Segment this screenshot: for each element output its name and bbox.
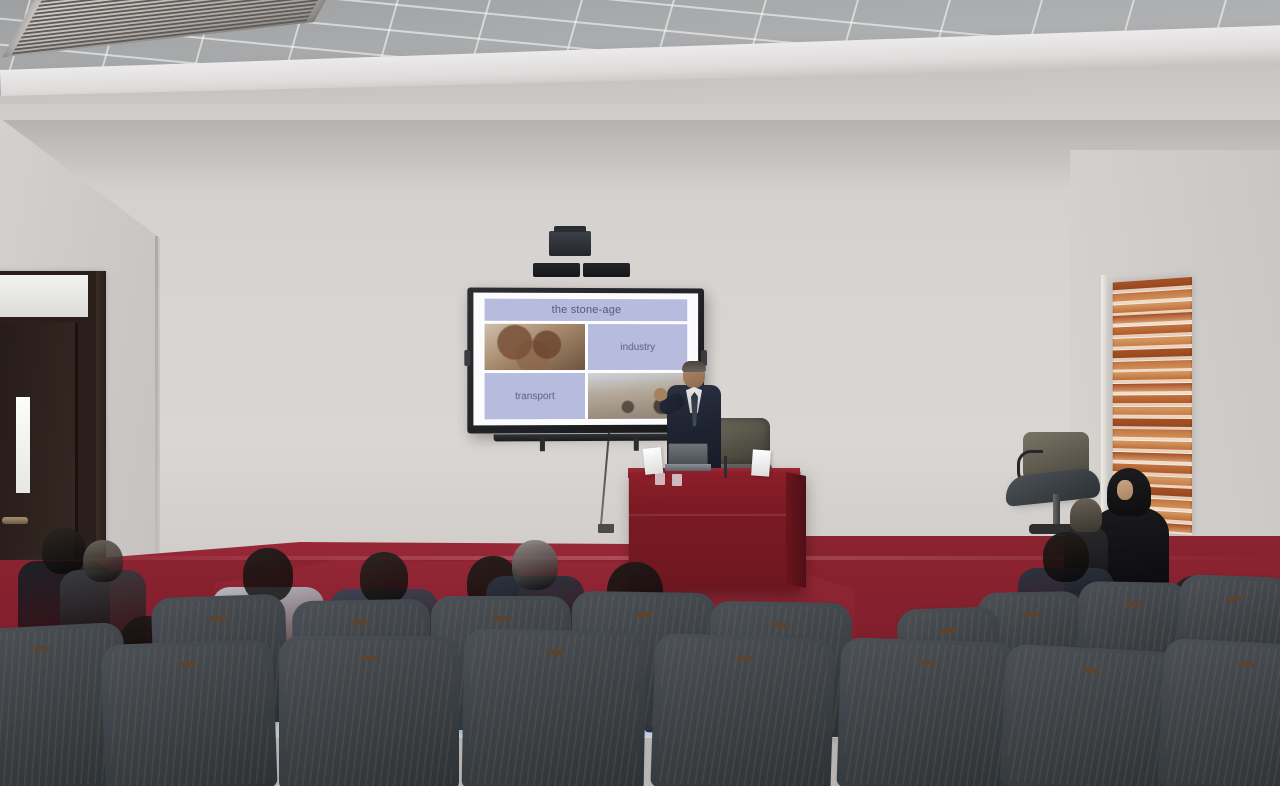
door-handle[interactable] [2, 517, 28, 524]
seat-number-tag [179, 662, 195, 668]
seat-number-tag [34, 646, 50, 652]
board-leg [634, 437, 639, 451]
board-pen-tray [494, 434, 680, 442]
board-side-knob [464, 350, 470, 366]
seat-number-tag [353, 620, 369, 625]
door-transom-window [0, 275, 88, 317]
auditorium-seat[interactable] [658, 637, 829, 786]
podium-table-side [786, 472, 806, 588]
seat-number-tag [773, 622, 789, 627]
ceiling-projector [549, 231, 591, 256]
seat-number-tag [940, 628, 956, 634]
door-jamb [96, 271, 106, 571]
chair-post [1053, 494, 1060, 528]
auditorium-seat[interactable] [1164, 642, 1280, 786]
auditorium-seat[interactable] [286, 640, 452, 786]
auditorium-seat[interactable] [469, 633, 640, 786]
slide-label-transport: transport [485, 373, 585, 419]
speaker-bar-left [533, 263, 580, 277]
person-head [83, 540, 123, 582]
seat-number-tag [493, 616, 509, 621]
person-head [512, 540, 558, 590]
water-glass [655, 473, 665, 485]
podium-microphone [724, 456, 727, 478]
laptop-keyboard [665, 464, 711, 471]
entrance-door-frame[interactable] [0, 271, 102, 571]
abaya-hood [1070, 498, 1102, 532]
wall-corner-line [155, 236, 158, 566]
auditorium-seat[interactable] [1007, 648, 1172, 786]
face [1117, 480, 1133, 500]
cave-painting-image [485, 324, 585, 370]
wall-power-socket [598, 524, 614, 533]
seat-number-tag [737, 656, 753, 662]
seat-number-tag [361, 656, 377, 661]
auditorium-seat[interactable] [844, 641, 1009, 786]
presentation-slide: the stone-age industry transport [483, 297, 690, 422]
slide-title: the stone-age [485, 299, 688, 322]
presenter-laptop[interactable] [665, 443, 711, 473]
board-leg [540, 437, 545, 451]
seat-number-tag [1227, 596, 1243, 602]
laptop-screen [668, 443, 708, 465]
seat-wood-grain [286, 640, 452, 786]
presenter-hair [682, 361, 706, 372]
seat-number-tag [636, 612, 652, 617]
door-glass-panel [16, 397, 30, 493]
lecture-hall-photo: the stone-age industry transport [0, 0, 1280, 786]
seat-number-tag [1238, 662, 1254, 668]
seat-wood-grain [469, 633, 640, 786]
seat-number-tag [1125, 602, 1141, 607]
seat-number-tag [210, 616, 226, 622]
person-head [1043, 532, 1089, 582]
name-tent-card [751, 449, 771, 476]
seat-number-tag [1023, 612, 1039, 617]
cloth-fold [629, 514, 801, 516]
seat-number-tag [920, 660, 936, 666]
seat-number-tag [547, 650, 563, 655]
speaker-bar-right [583, 263, 630, 277]
auditorium-seat[interactable] [108, 643, 271, 786]
water-glass [672, 474, 682, 486]
name-tent-card [643, 447, 664, 475]
seat-wood-grain [1164, 642, 1280, 786]
seat-number-tag [1083, 668, 1099, 674]
person-head [360, 552, 408, 604]
